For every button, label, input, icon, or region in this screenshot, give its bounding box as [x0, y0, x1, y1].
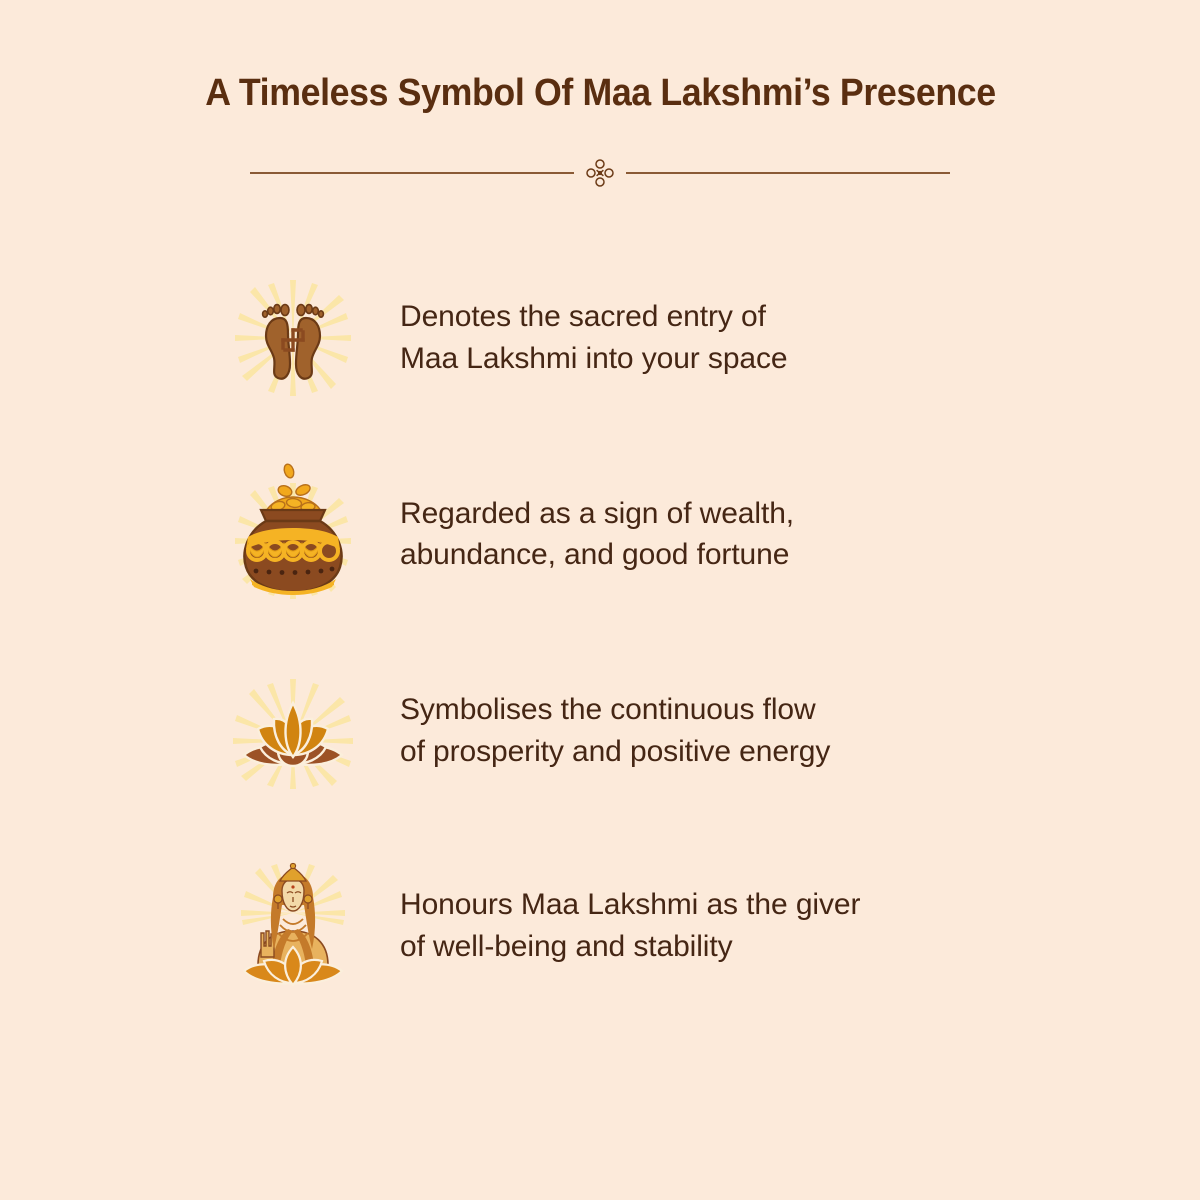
list-item-text: Regarded as a sign of wealth, abundance,… — [400, 493, 794, 576]
list-item-text: Denotes the sacred entry of Maa Lakshmi … — [400, 296, 788, 379]
list-item-line-2: abundance, and good fortune — [400, 534, 794, 575]
list-item: Honours Maa Lakshmi as the giver of well… — [0, 828, 1200, 1023]
decorative-divider — [250, 158, 950, 188]
list-item: Symbolises the continuous flow of prospe… — [0, 633, 1200, 828]
poster-canvas: A Timeless Symbol Of Maa Lakshmi’s Prese… — [0, 0, 1200, 1200]
goddess-lakshmi-icon — [228, 858, 358, 993]
list-item-line-2: Maa Lakshmi into your space — [400, 338, 788, 379]
page-title-container: A Timeless Symbol Of Maa Lakshmi’s Prese… — [0, 72, 1200, 115]
list-item: Regarded as a sign of wealth, abundance,… — [0, 435, 1200, 633]
list-item-text: Symbolises the continuous flow of prospe… — [400, 689, 830, 772]
list-item: Denotes the sacred entry of Maa Lakshmi … — [0, 240, 1200, 435]
list-item-line-2: of prosperity and positive energy — [400, 731, 830, 772]
divider-rule-right — [626, 172, 950, 174]
page-title: A Timeless Symbol Of Maa Lakshmi’s Prese… — [205, 72, 996, 115]
lotus-flower-icon — [228, 663, 358, 798]
list-item-line-2: of well-being and stability — [400, 926, 860, 967]
lakshmi-footprints-icon — [228, 270, 358, 405]
decorative-knot-ornament — [583, 158, 617, 188]
list-item-line-1: Honours Maa Lakshmi as the giver — [400, 884, 860, 925]
benefit-list: Denotes the sacred entry of Maa Lakshmi … — [0, 240, 1200, 1023]
divider-rule-left — [250, 172, 574, 174]
list-item-text: Honours Maa Lakshmi as the giver of well… — [400, 884, 860, 967]
gold-coin-pot-icon — [228, 467, 358, 602]
list-item-line-1: Regarded as a sign of wealth, — [400, 493, 794, 534]
list-item-line-1: Denotes the sacred entry of — [400, 296, 788, 337]
list-item-line-1: Symbolises the continuous flow — [400, 689, 830, 730]
